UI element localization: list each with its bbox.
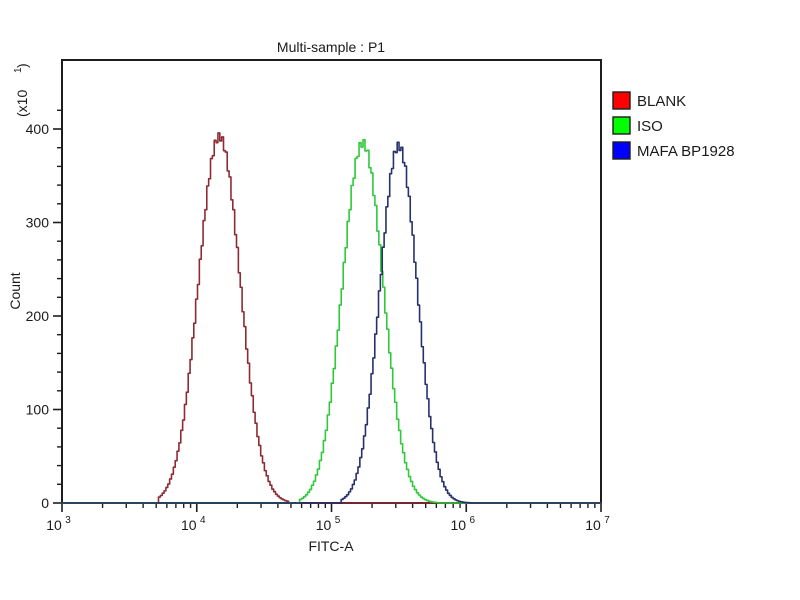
- x-tick-exponent: 7: [604, 515, 610, 526]
- legend-item-mafa-bp1928[interactable]: MAFA BP1928: [613, 142, 735, 160]
- histogram-curve-blank: [62, 133, 601, 503]
- x-tick-mantissa: 10: [181, 517, 197, 533]
- x-tick-mantissa: 10: [46, 517, 62, 533]
- legend-label: MAFA BP1928: [637, 143, 735, 160]
- histogram-curve-iso: [62, 140, 601, 503]
- y-axis-ticks: [53, 110, 62, 503]
- chart-canvas: Multi-sample : P1 (x10 1 ) Count FITC-A …: [0, 0, 800, 600]
- y-axis-label: Count: [7, 272, 23, 309]
- y-tick-label: 300: [26, 215, 50, 231]
- y-axis-multiplier: (x10 1 ): [13, 63, 30, 117]
- x-tick-mantissa: 10: [316, 517, 332, 533]
- x-tick-mantissa: 10: [585, 517, 601, 533]
- y-tick-label: 100: [26, 402, 50, 418]
- x-tick-exponent: 4: [200, 515, 206, 526]
- x-tick-mantissa: 10: [450, 517, 466, 533]
- x-axis-label: FITC-A: [308, 538, 354, 554]
- x-tick-exponent: 5: [335, 515, 341, 526]
- x-tick-label: 103: [46, 515, 71, 533]
- x-tick-label: 106: [450, 515, 475, 533]
- legend-swatch: [613, 92, 630, 109]
- legend-swatch: [613, 117, 630, 134]
- x-tick-exponent: 3: [65, 515, 71, 526]
- legend-label: BLANK: [637, 93, 686, 110]
- x-tick-label: 105: [316, 515, 341, 533]
- chart-title: Multi-sample : P1: [277, 39, 385, 55]
- x-tick-label: 107: [585, 515, 610, 533]
- histogram-curves: [62, 133, 601, 503]
- y-tick-label: 0: [41, 495, 49, 511]
- legend-label: ISO: [637, 118, 663, 135]
- y-multiplier-close: ): [14, 63, 30, 68]
- legend-swatch: [613, 142, 630, 159]
- y-tick-label: 200: [26, 308, 50, 324]
- x-axis-ticks: [62, 503, 601, 512]
- plot-frame: [62, 60, 601, 503]
- legend-item-iso[interactable]: ISO: [613, 117, 663, 135]
- x-axis-tick-labels: 103104105106107: [46, 515, 610, 533]
- y-multiplier-open: (x10: [14, 90, 30, 117]
- y-tick-label: 400: [26, 121, 50, 137]
- x-tick-exponent: 6: [469, 515, 475, 526]
- y-axis-tick-labels: 0100200300400: [26, 121, 50, 511]
- chart-legend: BLANKISOMAFA BP1928: [613, 92, 735, 160]
- legend-item-blank[interactable]: BLANK: [613, 92, 686, 110]
- histogram-curve-mafa-bp1928: [62, 142, 601, 503]
- x-tick-label: 104: [181, 515, 206, 533]
- flow-cytometry-figure: Multi-sample : P1 (x10 1 ) Count FITC-A …: [0, 0, 800, 600]
